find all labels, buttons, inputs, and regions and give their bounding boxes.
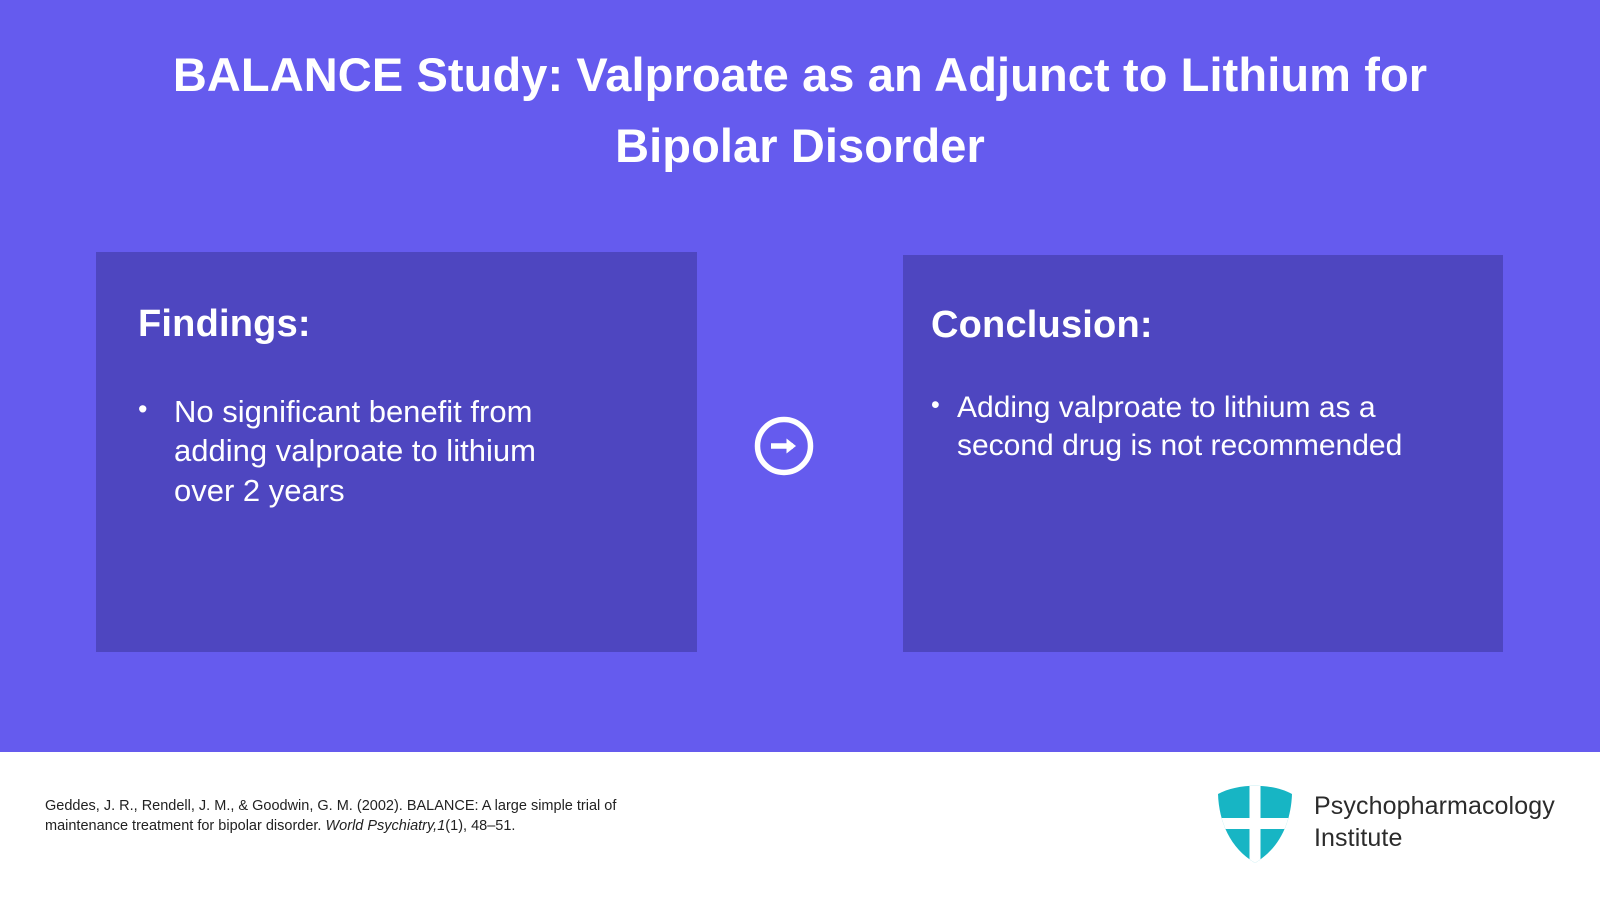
findings-bullet-text: No significant benefit from adding valpr… [174, 392, 599, 511]
citation-reference: Geddes, J. R., Rendell, J. M., & Goodwin… [45, 796, 645, 836]
citation-text-part2: (1), 48–51. [445, 818, 515, 834]
bullet-glyph: • [931, 389, 957, 421]
bullet-glyph: • [138, 392, 174, 427]
conclusion-bullet-list: • Adding valproate to lithium as a secon… [931, 389, 1477, 466]
findings-bullet-list: • No significant benefit from adding val… [138, 392, 667, 511]
list-item: • No significant benefit from adding val… [138, 392, 667, 511]
conclusion-card: Conclusion: • Adding valproate to lithiu… [903, 255, 1503, 652]
conclusion-heading: Conclusion: [931, 305, 1477, 347]
findings-heading: Findings: [138, 304, 667, 346]
shield-logo-icon [1216, 780, 1294, 864]
brand-logo-line2: Institute [1314, 822, 1555, 854]
brand-logo-line1: Psychopharmacology [1314, 790, 1555, 822]
slide-footer: Geddes, J. R., Rendell, J. M., & Goodwin… [0, 752, 1600, 899]
slide: BALANCE Study: Valproate as an Adjunct t… [0, 0, 1600, 899]
page-title: BALANCE Study: Valproate as an Adjunct t… [100, 40, 1500, 181]
findings-card: Findings: • No significant benefit from … [96, 252, 697, 652]
list-item: • Adding valproate to lithium as a secon… [931, 389, 1477, 466]
conclusion-bullet-text: Adding valproate to lithium as a second … [957, 389, 1467, 466]
brand-logo: Psychopharmacology Institute [1216, 780, 1555, 864]
citation-journal: World Psychiatry, [325, 818, 437, 834]
slide-body: BALANCE Study: Valproate as an Adjunct t… [0, 0, 1600, 752]
arrow-right-circle-icon [753, 415, 815, 477]
brand-logo-text: Psychopharmacology Institute [1314, 790, 1555, 854]
